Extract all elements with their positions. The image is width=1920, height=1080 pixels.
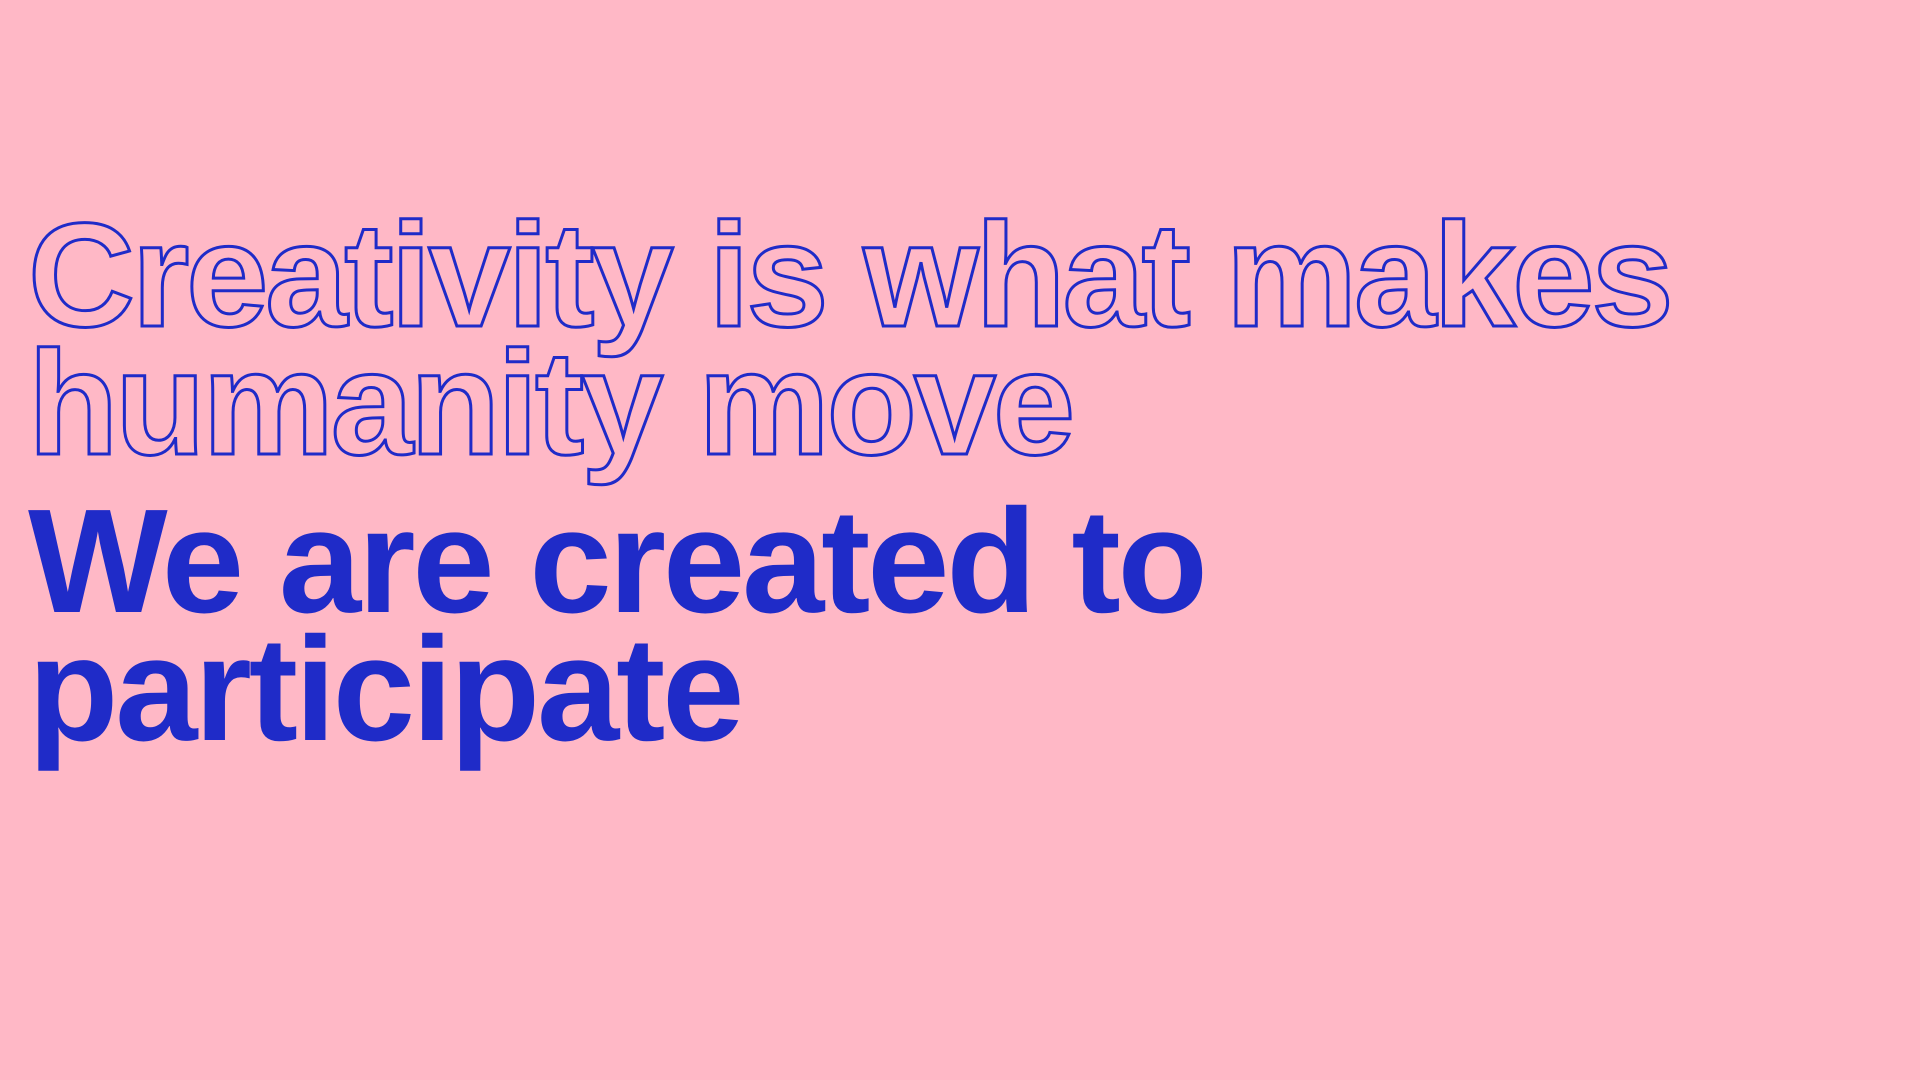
outlined-quote: Creativity is what makes humanity move [28,212,1888,468]
slide-canvas: Creativity is what makes humanity move W… [0,0,1920,1080]
solid-statement: We are created to participate [28,498,1888,754]
statement-line-2: participate [28,626,1888,754]
quote-line-2: humanity move [28,340,1888,468]
quote-text-block: Creativity is what makes humanity move W… [28,212,1888,754]
